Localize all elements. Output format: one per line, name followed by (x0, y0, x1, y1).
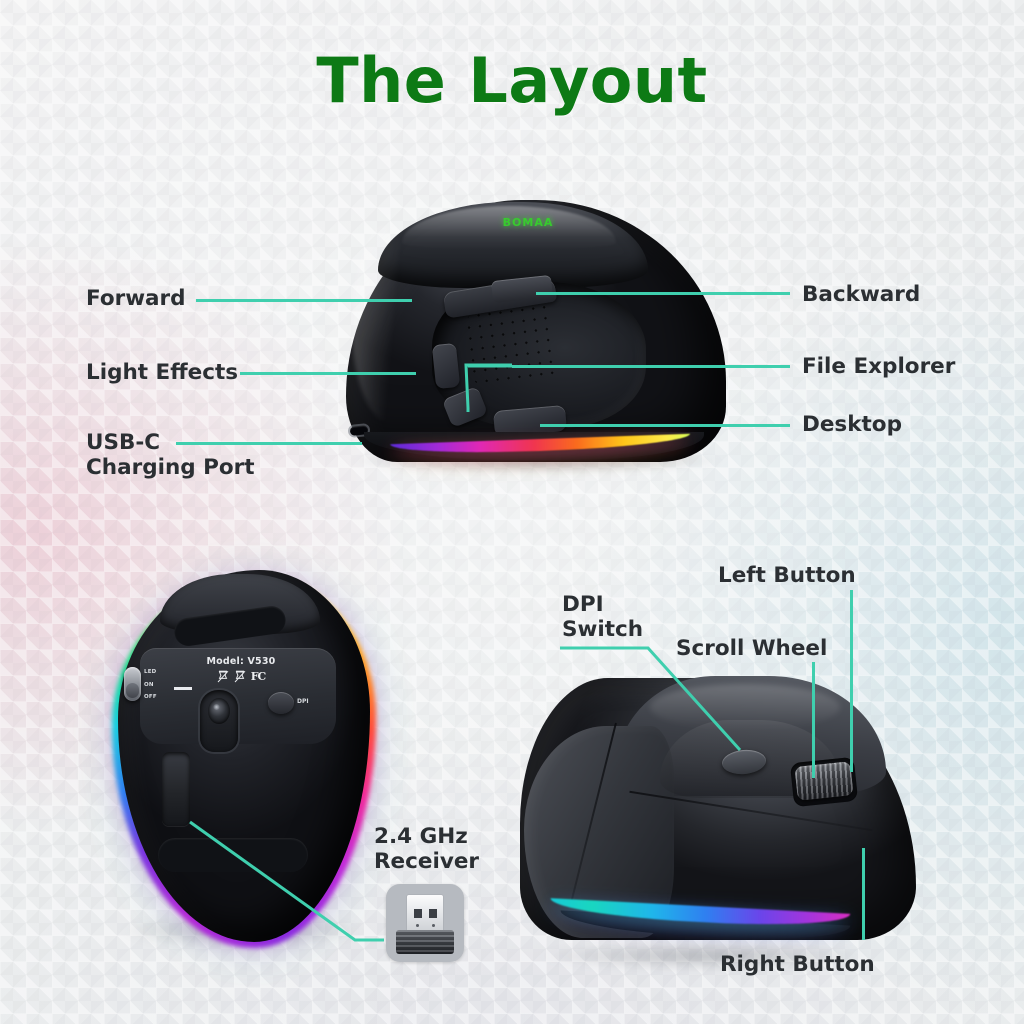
leader-line-right-button (862, 848, 865, 940)
callout-right-button: Right Button (720, 952, 875, 977)
leader-line-left-button (850, 590, 853, 772)
infographic-canvas: The Layout BOMAA Forward Light Effects U… (0, 0, 1024, 1024)
callout-left-button: Left Button (718, 563, 856, 588)
callout-dpi-switch: DPI Switch (562, 592, 643, 642)
leader-line-scroll-wheel (812, 662, 815, 778)
callout-scroll-wheel: Scroll Wheel (676, 636, 827, 661)
leader-line-dpi-switch (0, 0, 1024, 1024)
